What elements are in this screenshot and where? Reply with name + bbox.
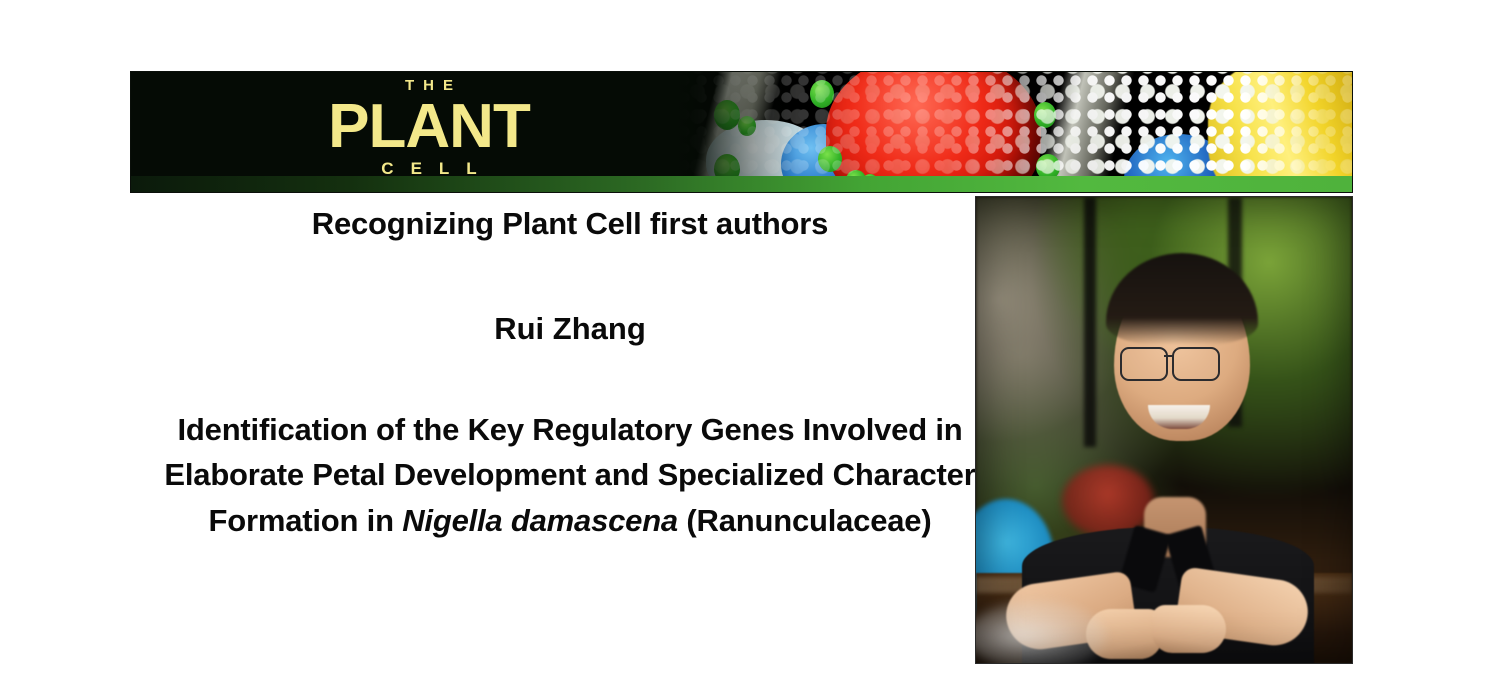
journal-logo: THE PLANT CELL	[264, 78, 594, 177]
logo-cell-text: CELL	[264, 160, 594, 177]
article-title-part2: (Ranunculaceae)	[678, 503, 932, 538]
author-portrait-photo	[976, 197, 1352, 663]
series-heading: Recognizing Plant Cell first authors	[150, 206, 990, 243]
slide-text-column: Recognizing Plant Cell first authors Rui…	[150, 197, 990, 543]
logo-the-text: THE	[264, 78, 594, 93]
banner-left-fade	[676, 72, 796, 192]
article-title-species: Nigella damascena	[402, 503, 678, 538]
slide-canvas: THE PLANT CELL Recognizing Plant Cell fi…	[0, 0, 1500, 680]
logo-plant-text: PLANT	[264, 95, 594, 158]
author-name: Rui Zhang	[150, 311, 990, 348]
banner-artwork	[676, 72, 1352, 192]
journal-banner: THE PLANT CELL	[131, 72, 1352, 192]
article-title: Identification of the Key Regulatory Gen…	[150, 407, 990, 543]
banner-green-accent-band	[131, 176, 1352, 192]
portrait-vignette	[976, 197, 1352, 663]
